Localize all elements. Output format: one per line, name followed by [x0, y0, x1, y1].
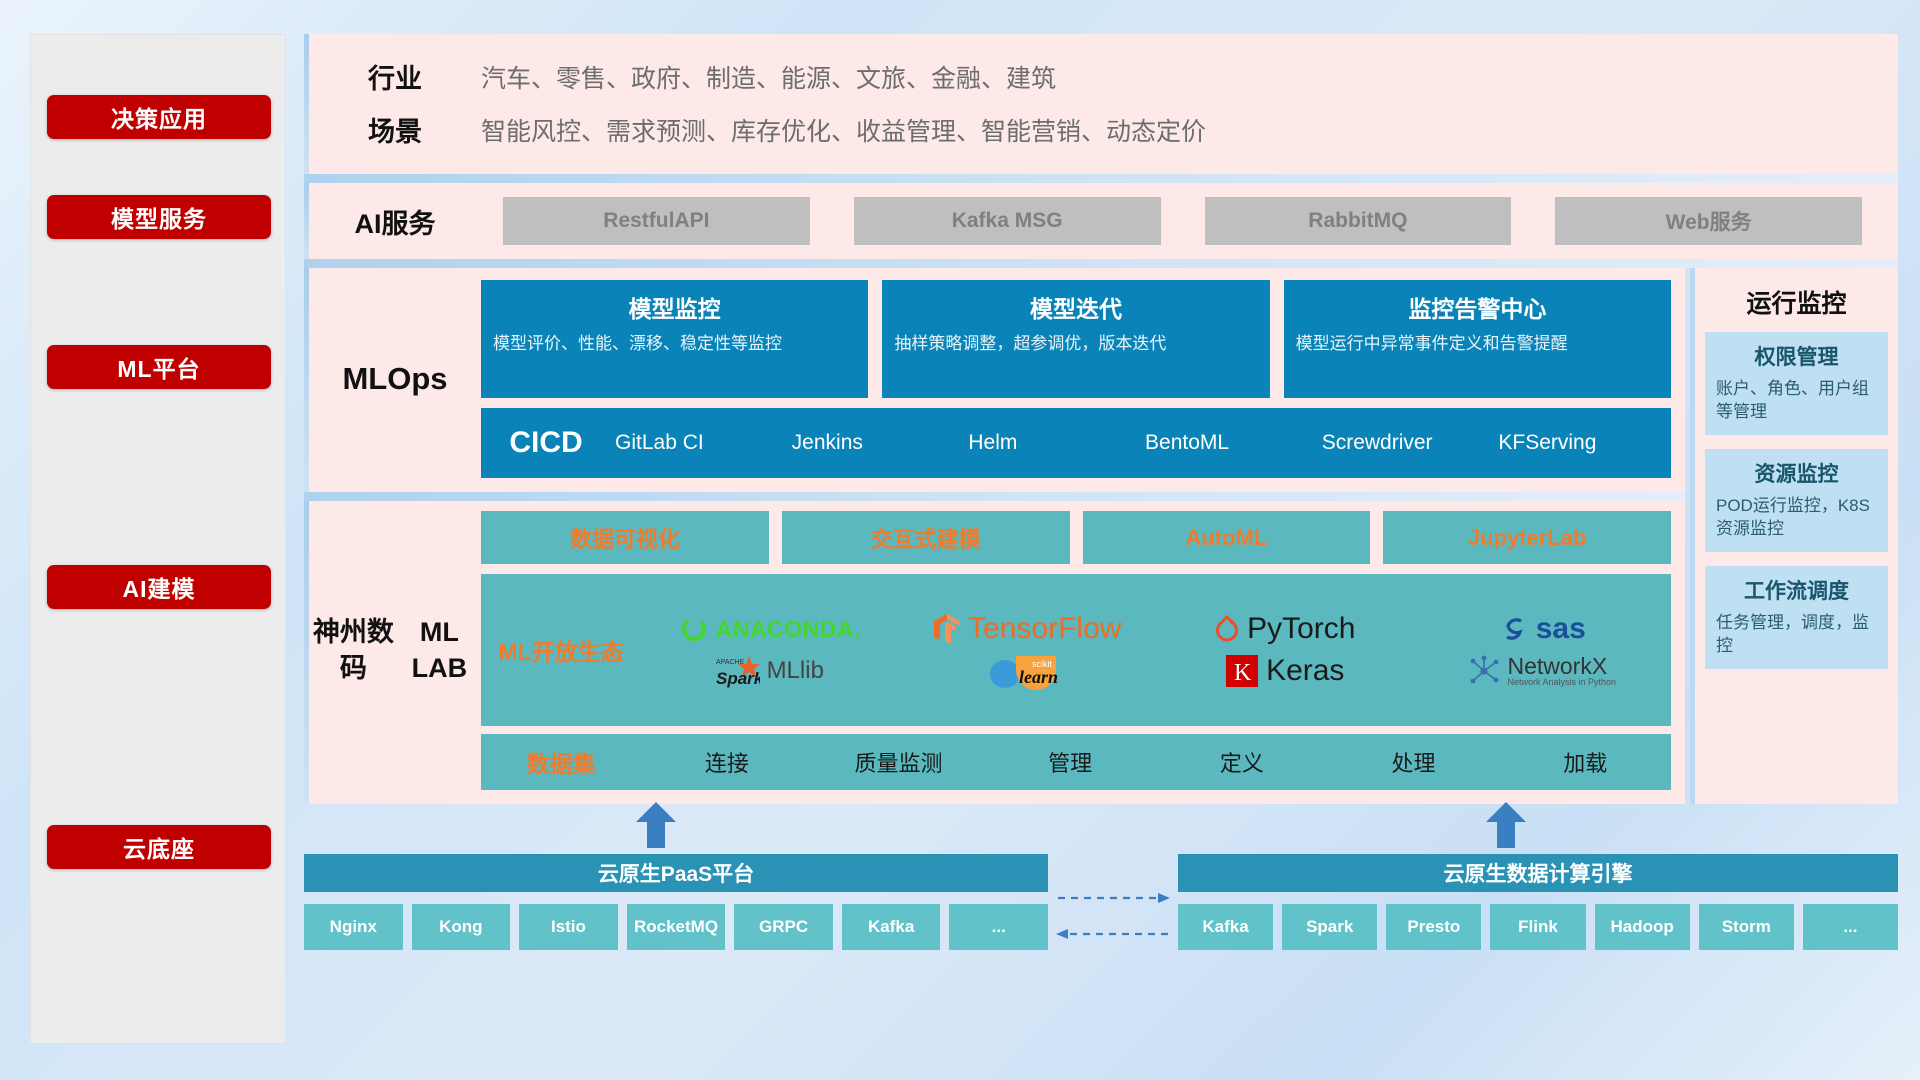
tool-data-visualization[interactable]: 数据可视化 — [481, 511, 769, 564]
diagram-root: 决策应用 模型服务 ML平台 AI建模 云底座 行业 场景 汽车、零售、政府、制… — [30, 34, 1898, 1044]
monitoring-title: 运行监控 — [1705, 268, 1888, 332]
modeling-tools: 数据可视化 交互式建模 AutoML JupyterLab — [481, 511, 1671, 564]
arrow-up-right-icon — [1484, 802, 1528, 848]
keras-icon: K — [1225, 654, 1259, 688]
paas-title: 云原生PaaS平台 — [304, 854, 1048, 892]
compute-engine-title: 云原生数据计算引擎 — [1178, 854, 1898, 892]
service-layer: AI服务 RestfulAPI Kafka MSG RabbitMQ Web服务 — [304, 183, 1898, 259]
mlops-card-title: 监控告警中心 — [1296, 290, 1659, 324]
dataset-item-quality[interactable]: 质量监测 — [813, 746, 985, 778]
keras-label: Keras — [1266, 654, 1344, 688]
application-labels: 行业 场景 — [309, 50, 481, 156]
rail-chip-ai-modeling[interactable]: AI建模 — [47, 565, 271, 609]
tensorflow-logo: TensorFlow — [933, 612, 1121, 646]
compute-engine-block: 云原生数据计算引擎 Kafka Spark Presto Flink Hadoo… — [1178, 854, 1898, 958]
chip-more-right[interactable]: ... — [1803, 904, 1898, 950]
chip-hadoop[interactable]: Hadoop — [1595, 904, 1690, 950]
arrow-up-left-icon — [634, 802, 678, 848]
mlops-card-model-monitoring[interactable]: 模型监控 模型评价、性能、漂移、稳定性等监控 — [481, 280, 868, 398]
mlops-card-desc: 模型运行中异常事件定义和告警提醒 — [1296, 333, 1659, 356]
label-dataset: 数据集 — [481, 745, 641, 779]
chip-kafka[interactable]: Kafka — [842, 904, 941, 950]
dataset-item-load[interactable]: 加载 — [1499, 746, 1671, 778]
svg-text:Spark: Spark — [716, 669, 760, 688]
layer-rail: 决策应用 模型服务 ML平台 AI建模 云底座 — [30, 34, 286, 1044]
mlops-card-desc: 模型评价、性能、漂移、稳定性等监控 — [493, 333, 856, 356]
tool-jupyterlab[interactable]: JupyterLab — [1383, 511, 1671, 564]
cicd-item-helm[interactable]: Helm — [964, 430, 1141, 456]
connector-arrows — [1048, 854, 1178, 964]
label-ml-lab: 神州数码 ML LAB — [309, 511, 481, 790]
networkx-label: NetworkX — [1507, 654, 1616, 678]
ml-ecosystem: ML开放生态 ANACONDA. — [481, 574, 1671, 726]
separator-2 — [304, 259, 1898, 268]
monitoring-card-title: 工作流调度 — [1716, 575, 1877, 605]
dataset-item-process[interactable]: 处理 — [1328, 746, 1500, 778]
chip-kong[interactable]: Kong — [412, 904, 511, 950]
rail-chip-cloud-base[interactable]: 云底座 — [47, 825, 271, 869]
rail-chip-model-service[interactable]: 模型服务 — [47, 195, 271, 239]
tensorflow-label: TensorFlow — [968, 612, 1121, 646]
compute-engine-chips: Kafka Spark Presto Flink Hadoop Storm ..… — [1178, 904, 1898, 950]
monitoring-card-desc: 账户、角色、用户组等管理 — [1716, 378, 1877, 424]
mllib-label: MLlib — [767, 657, 824, 685]
separator-3 — [304, 492, 1685, 501]
pytorch-label: PyTorch — [1247, 612, 1355, 646]
monitoring-card-workflow[interactable]: 工作流调度 任务管理，调度，监控 — [1705, 566, 1888, 669]
chip-istio[interactable]: Istio — [519, 904, 618, 950]
keras-logo: K Keras — [1225, 654, 1344, 688]
cicd-bar: CICD GitLab CI Jenkins Helm BentoML Scre… — [481, 408, 1671, 478]
mlops-layer: MLOps 模型监控 模型评价、性能、漂移、稳定性等监控 模型迭代 抽样策略调整… — [304, 268, 1685, 492]
paas-chips: Nginx Kong Istio RocketMQ GRPC Kafka ... — [304, 904, 1048, 950]
chip-more-left[interactable]: ... — [949, 904, 1048, 950]
dataset-item-connect[interactable]: 连接 — [641, 746, 813, 778]
cloud-layer: 云原生PaaS平台 Nginx Kong Istio RocketMQ GRPC… — [304, 808, 1898, 958]
chip-nginx[interactable]: Nginx — [304, 904, 403, 950]
separator-1 — [304, 174, 1898, 183]
spark-icon: APACHE Spark — [716, 652, 760, 690]
tool-automl[interactable]: AutoML — [1083, 511, 1371, 564]
pytorch-icon — [1214, 614, 1240, 644]
svg-text:K: K — [1234, 660, 1252, 686]
monitoring-card-title: 资源监控 — [1716, 458, 1877, 488]
tensorflow-icon — [933, 613, 961, 645]
monitoring-panel: 运行监控 权限管理 账户、角色、用户组等管理 资源监控 POD运行监控，K8S资… — [1690, 268, 1898, 804]
main-column: 行业 场景 汽车、零售、政府、制造、能源、文旅、金融、建筑 智能风控、需求预测、… — [304, 34, 1898, 1044]
spark-mllib-logo: APACHE Spark MLlib — [716, 652, 824, 690]
pytorch-logo: PyTorch — [1214, 612, 1355, 646]
networkx-icon — [1468, 655, 1500, 687]
label-scenario: 场景 — [309, 103, 481, 156]
cicd-item-gitlab[interactable]: GitLab CI — [611, 430, 788, 456]
svg-text:learn: learn — [1019, 667, 1058, 687]
label-mlops: MLOps — [309, 280, 481, 478]
anaconda-icon — [679, 614, 709, 644]
mlops-card-desc: 抽样策略调整，超参调优，版本迭代 — [894, 333, 1257, 356]
dataset-item-define[interactable]: 定义 — [1156, 746, 1328, 778]
ml-lab-line1: 神州数码 — [309, 615, 398, 685]
mlops-card-model-iteration[interactable]: 模型迭代 抽样策略调整，超参调优，版本迭代 — [882, 280, 1269, 398]
chip-spark[interactable]: Spark — [1282, 904, 1377, 950]
cicd-item-bentoml[interactable]: BentoML — [1141, 430, 1318, 456]
application-values: 汽车、零售、政府、制造、能源、文旅、金融、建筑 智能风控、需求预测、库存优化、收… — [481, 50, 1898, 156]
value-industry: 汽车、零售、政府、制造、能源、文旅、金融、建筑 — [481, 50, 1898, 103]
mlops-card-alert-center[interactable]: 监控告警中心 模型运行中异常事件定义和告警提醒 — [1284, 280, 1671, 398]
networkx-logo: NetworkX Network Analysis in Python — [1468, 654, 1616, 688]
dataset-item-manage[interactable]: 管理 — [984, 746, 1156, 778]
label-industry: 行业 — [309, 50, 481, 103]
chip-storm[interactable]: Storm — [1699, 904, 1794, 950]
rail-chip-decision[interactable]: 决策应用 — [47, 95, 271, 139]
scikit-learn-logo: scikit learn — [988, 650, 1066, 692]
paas-block: 云原生PaaS平台 Nginx Kong Istio RocketMQ GRPC… — [304, 854, 1048, 958]
service-restfulapi[interactable]: RestfulAPI — [503, 197, 810, 245]
anaconda-label: ANACONDA. — [716, 616, 861, 643]
rail-chip-ml-platform[interactable]: ML平台 — [47, 345, 271, 389]
tool-interactive-modeling[interactable]: 交互式建模 — [782, 511, 1070, 564]
chip-kafka-right[interactable]: Kafka — [1178, 904, 1273, 950]
monitoring-card-permission[interactable]: 权限管理 账户、角色、用户组等管理 — [1705, 332, 1888, 435]
cicd-item-kfserving[interactable]: KFServing — [1494, 430, 1671, 456]
value-scenario: 智能风控、需求预测、库存优化、收益管理、智能营销、动态定价 — [481, 103, 1898, 156]
chip-grpc[interactable]: GRPC — [734, 904, 833, 950]
dataset-bar: 数据集 连接 质量监测 管理 定义 处理 加载 — [481, 734, 1671, 790]
service-rabbitmq[interactable]: RabbitMQ — [1205, 197, 1512, 245]
sas-icon — [1499, 614, 1529, 644]
chip-presto[interactable]: Presto — [1386, 904, 1481, 950]
cicd-title: CICD — [481, 426, 611, 460]
monitoring-card-title: 权限管理 — [1716, 341, 1877, 371]
label-ml-ecosystem: ML开放生态 — [481, 633, 641, 667]
sas-label: sas — [1536, 612, 1586, 646]
service-kafka-msg[interactable]: Kafka MSG — [854, 197, 1161, 245]
service-items: RestfulAPI Kafka MSG RabbitMQ Web服务 — [481, 197, 1898, 245]
cicd-item-screwdriver[interactable]: Screwdriver — [1318, 430, 1495, 456]
application-layer: 行业 场景 汽车、零售、政府、制造、能源、文旅、金融、建筑 智能风控、需求预测、… — [304, 34, 1898, 174]
monitoring-card-desc: POD运行监控，K8S资源监控 — [1716, 495, 1877, 541]
ml-lab-line2: ML LAB — [398, 615, 481, 685]
service-web[interactable]: Web服务 — [1555, 197, 1862, 245]
modeling-layer: 神州数码 ML LAB 数据可视化 交互式建模 AutoML JupyterLa… — [304, 501, 1685, 804]
mlops-card-title: 模型迭代 — [894, 290, 1257, 324]
chip-flink[interactable]: Flink — [1490, 904, 1585, 950]
mlops-cards: 模型监控 模型评价、性能、漂移、稳定性等监控 模型迭代 抽样策略调整，超参调优，… — [481, 280, 1671, 398]
monitoring-card-resource[interactable]: 资源监控 POD运行监控，K8S资源监控 — [1705, 449, 1888, 552]
networkx-sublabel: Network Analysis in Python — [1507, 678, 1616, 687]
scikit-learn-icon: scikit learn — [988, 650, 1066, 692]
cicd-item-jenkins[interactable]: Jenkins — [788, 430, 965, 456]
sas-logo: sas — [1499, 612, 1586, 646]
mlops-card-title: 模型监控 — [493, 290, 856, 324]
chip-rocketmq[interactable]: RocketMQ — [627, 904, 726, 950]
label-ai-service: AI服务 — [309, 202, 481, 241]
monitoring-card-desc: 任务管理，调度，监控 — [1716, 612, 1877, 658]
anaconda-logo: ANACONDA. — [679, 614, 861, 644]
